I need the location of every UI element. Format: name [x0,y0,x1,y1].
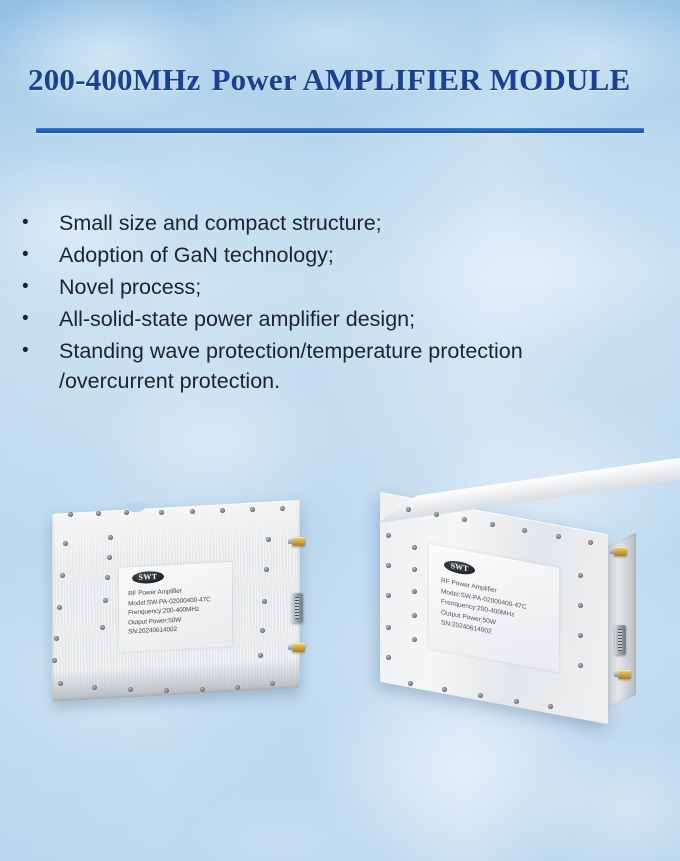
bullet-icon: • [18,272,59,302]
screw [52,658,57,663]
bullet-icon: • [18,336,59,366]
screw [412,567,417,572]
feature-text: Standing wave protection/temperature pro… [59,336,666,396]
screw [58,681,63,686]
screw [434,512,439,517]
screw [105,575,110,580]
screw [280,506,285,511]
screw [386,625,391,630]
screw [103,598,108,603]
screw [478,693,483,698]
bullet-icon: • [18,208,59,238]
screw [60,573,65,578]
bullet-icon: • [18,240,59,270]
screw [108,535,113,540]
screw [462,517,467,522]
list-item: • Small size and compact structure; [18,208,666,238]
feature-text: Novel process; [59,272,666,302]
screw [412,637,417,642]
feature-text: Adoption of GaN technology; [59,240,666,270]
title-divider [36,128,644,133]
list-item: • All-solid-state power amplifier design… [18,304,666,334]
screw [57,605,62,610]
screw [578,573,583,578]
sma-connector [614,547,627,556]
screw [260,628,265,633]
list-item: • Standing wave protection/temperature p… [18,336,666,396]
feature-text: Small size and compact structure; [59,208,666,238]
screw [442,687,447,692]
screw [250,507,255,512]
page-title-frequency: 200-400MHz [28,62,200,97]
dsub-connector [615,625,626,655]
product-label-left: SWT RF Power Amplifier Model:SW-PA-02000… [119,562,232,652]
screw [96,511,101,516]
screw [107,555,112,560]
screw [128,687,133,692]
list-item: • Adoption of GaN technology; [18,240,666,270]
screw [578,603,583,608]
screw [258,653,263,658]
label-text-block: RF Power Amplifier Model:SW-PA-02000400-… [128,584,229,637]
screw [262,599,267,604]
screw [408,681,413,686]
label-text-block: RF Power Amplifier Model:SW-PA-02000400-… [441,576,555,650]
page-title-product: Power AMPLIFIER MODULE [211,62,630,97]
screw [164,688,169,693]
screw [522,528,527,533]
screw [412,589,417,594]
screw [490,522,495,527]
screw [406,507,411,512]
screw [556,534,561,539]
bullet-icon: • [18,304,59,334]
screw [386,593,391,598]
screw [54,636,59,641]
screw [588,540,593,545]
screw [124,510,129,515]
page-title: 200-400MHzPower AMPLIFIER MODULE [28,62,658,98]
screw [63,541,68,546]
product-datasheet-page: 200-400MHzPower AMPLIFIER MODULE • Small… [0,0,680,861]
screw [386,533,391,538]
brand-logo-icon: SWT [132,571,164,585]
screw [548,704,553,709]
screw [578,633,583,638]
screw [270,681,275,686]
screw [220,508,225,513]
sma-connector [292,537,305,546]
feature-text: All-solid-state power amplifier design; [59,304,666,334]
screw [235,685,240,690]
screw [68,512,73,517]
feature-list: • Small size and compact structure; • Ad… [18,208,666,398]
screw [514,699,519,704]
screw [386,655,391,660]
sma-connector [618,670,631,679]
screw [100,625,105,630]
amplifier-housing-side [606,533,636,710]
sma-connector [292,643,305,652]
brand-logo-icon: SWT [444,559,475,577]
screw [159,510,164,515]
screw [386,563,391,568]
screw [264,567,269,572]
screw [266,537,271,542]
screw [92,685,97,690]
list-item: • Novel process; [18,272,666,302]
screw [412,545,417,550]
screw [200,687,205,692]
screw [412,613,417,618]
dsub-connector [292,593,303,623]
screw [578,663,583,668]
screw [190,509,195,514]
